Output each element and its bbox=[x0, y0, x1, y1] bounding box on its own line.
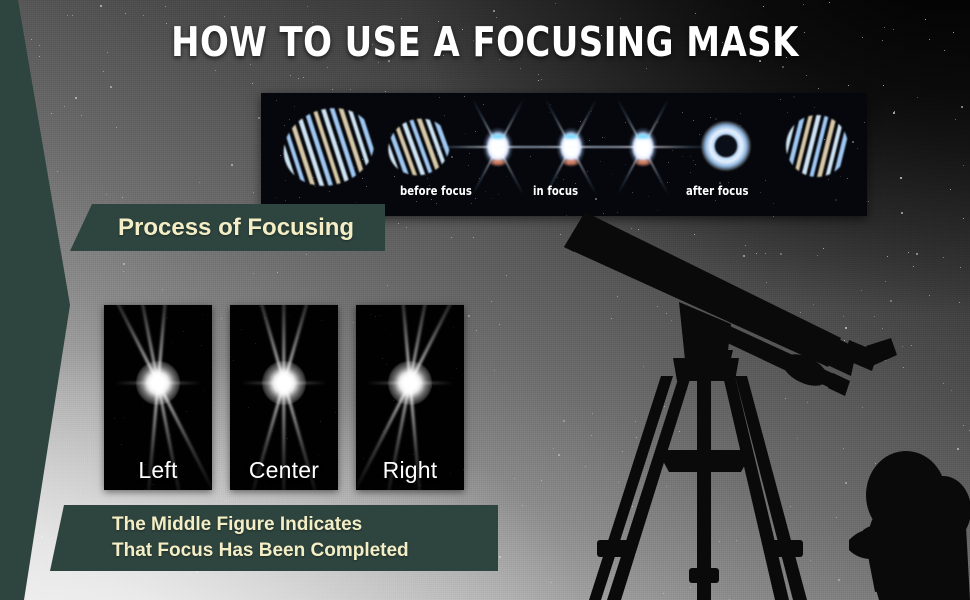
tripod-clamp-left bbox=[597, 540, 629, 557]
star-core bbox=[388, 361, 432, 405]
star-panel-left: Left bbox=[104, 305, 212, 490]
banner-result-line1: The Middle Figure Indicates bbox=[112, 514, 362, 535]
astronomer-telescope-silhouette bbox=[545, 200, 970, 600]
star-core bbox=[262, 361, 306, 405]
banner-result-text: The Middle Figure Indicates That Focus H… bbox=[50, 505, 498, 564]
tripod-clamp-right bbox=[771, 540, 803, 557]
diffraction-pattern-near-focus-2 bbox=[623, 125, 663, 169]
focus-state-label-1: in focus bbox=[533, 184, 578, 198]
infographic-root: HOW TO USE A FOCUSING MASK before focusi… bbox=[0, 0, 970, 600]
focus-state-label-2: after focus bbox=[686, 184, 749, 198]
banner-result-line2: That Focus Has Been Completed bbox=[112, 538, 498, 564]
banner-process-of-focusing: Process of Focusing bbox=[70, 204, 385, 251]
person-hand bbox=[849, 530, 885, 559]
chromatic-fringe bbox=[491, 134, 505, 139]
banner-process-label: Process of Focusing bbox=[70, 204, 385, 251]
tripod-clamp-center bbox=[689, 568, 719, 583]
star-panel-right: Right bbox=[356, 305, 464, 490]
diffraction-spike bbox=[568, 146, 718, 148]
tripod-leg-center bbox=[697, 378, 711, 600]
focus-sequence-photo: before focusin focusafter focus bbox=[261, 93, 867, 216]
chromatic-fringe bbox=[636, 134, 650, 139]
chromatic-fringe bbox=[636, 160, 650, 165]
chromatic-fringe bbox=[491, 160, 505, 165]
tripod-leg-left bbox=[607, 376, 691, 600]
banner-focus-complete: The Middle Figure Indicates That Focus H… bbox=[50, 505, 498, 571]
chromatic-fringe bbox=[564, 134, 578, 139]
star-panel-center: Center bbox=[230, 305, 338, 490]
focus-state-label-0: before focus bbox=[400, 184, 472, 198]
page-title: HOW TO USE A FOCUSING MASK bbox=[39, 18, 931, 66]
star-panel-caption: Left bbox=[104, 457, 212, 484]
tripod-spreader-tray bbox=[657, 450, 753, 472]
chromatic-fringe bbox=[564, 160, 578, 165]
star-panel-caption: Center bbox=[230, 457, 338, 484]
star-core bbox=[136, 361, 180, 405]
star-panel-caption: Right bbox=[356, 457, 464, 484]
